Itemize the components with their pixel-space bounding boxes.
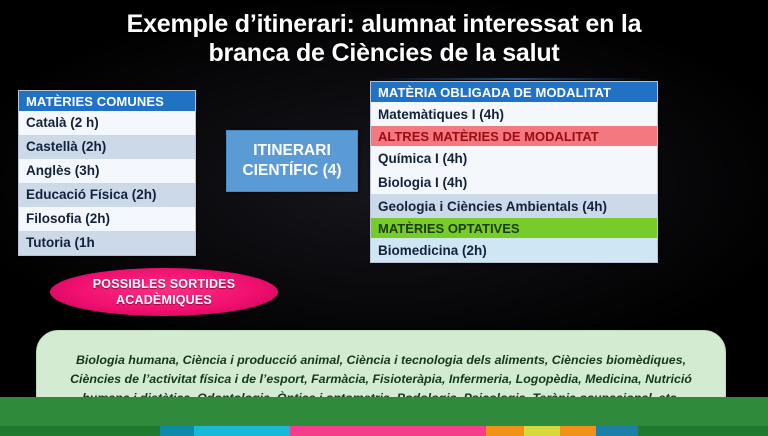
materies-modalitat-row: Matemàtiques I (4h) — [371, 102, 657, 126]
orange-bar-1 — [486, 426, 524, 436]
yellow-bar — [524, 426, 560, 436]
sortides-badge-line-2: ACADÈMIQUES — [116, 292, 212, 308]
materies-comunes-row: Anglès (3h) — [19, 159, 195, 183]
materies-comunes-row: Castellà (2h) — [19, 135, 195, 159]
materies-comunes-row: Català (2 h) — [19, 111, 195, 135]
materies-comunes-row: Tutoria (1h — [19, 231, 195, 255]
materies-modalitat-row: Química I (4h) — [371, 146, 657, 170]
materies-modalitat-row: Biologia I (4h) — [371, 170, 657, 194]
materies-modalitat-row: MATÈRIA OBLIGADA DE MODALITAT — [371, 82, 657, 102]
materies-modalitat-row: Biomedicina (2h) — [371, 238, 657, 262]
itinerari-line-1: ITINERARI — [253, 141, 331, 161]
title-line-1: Exemple d’itinerari: alumnat interessat … — [64, 10, 704, 39]
slide-canvas: Exemple d’itinerari: alumnat interessat … — [0, 0, 768, 436]
materies-comunes-row: Educació Física (2h) — [19, 183, 195, 207]
sortides-badge-line-1: POSSIBLES SORTIDES — [93, 276, 236, 292]
teal-bar — [160, 426, 194, 436]
materies-comunes-row: MATÈRIES COMUNES — [19, 91, 195, 111]
itinerari-cientific-box: ITINERARI CIENTÍFIC (4) — [226, 130, 358, 192]
title-line-2: branca de Ciències de la salut — [64, 39, 704, 68]
possibles-sortides-badge: POSSIBLES SORTIDES ACADÈMIQUES — [50, 268, 278, 316]
materies-modalitat-row: MATÈRIES OPTATIVES — [371, 218, 657, 238]
table-materies-modalitat: MATÈRIA OBLIGADA DE MODALITATMatemàtique… — [370, 81, 658, 263]
materies-comunes-row: Filosofia (2h) — [19, 207, 195, 231]
orange-bar-2 — [560, 426, 596, 436]
magenta-bar — [290, 426, 486, 436]
itinerari-line-2: CIENTÍFIC (4) — [242, 161, 341, 181]
table-materies-comunes: MATÈRIES COMUNESCatalà (2 h)Castellà (2h… — [18, 90, 196, 256]
materies-modalitat-row: Geologia i Ciències Ambientals (4h) — [371, 194, 657, 218]
materies-modalitat-row: ALTRES MATÈRIES DE MODALITAT — [371, 126, 657, 146]
decorative-hairline — [370, 78, 656, 80]
page-title: Exemple d’itinerari: alumnat interessat … — [64, 10, 704, 68]
blue-bar — [596, 426, 638, 436]
